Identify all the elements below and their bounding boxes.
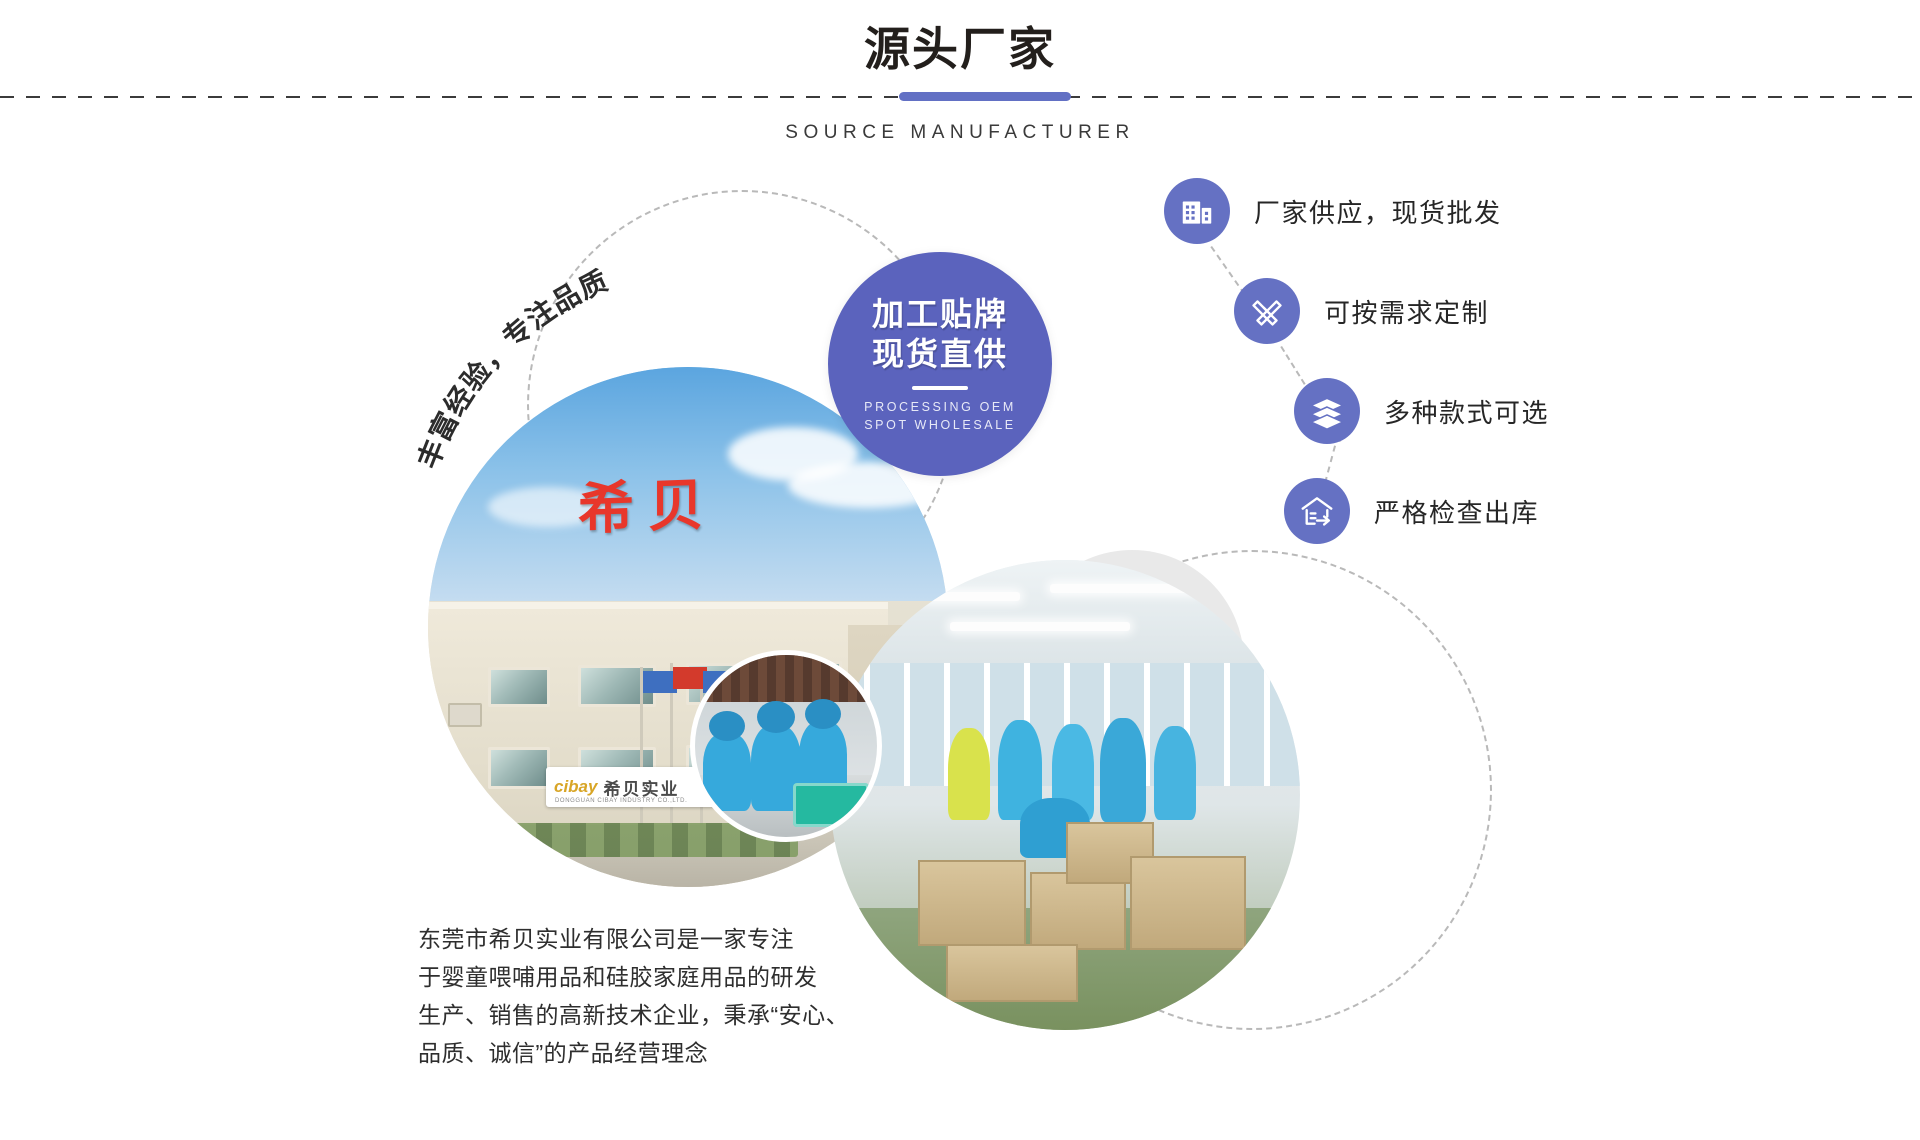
workshop-workers-photo: [690, 650, 882, 842]
bubble-line-2: 现货直供: [872, 334, 1008, 374]
page-subtitle: SOURCE MANUFACTURER: [0, 122, 1920, 144]
feature-item-2[interactable]: 可按需求定制: [1234, 278, 1489, 344]
feature-label-2: 可按需求定制: [1324, 293, 1489, 330]
bubble-divider: [912, 386, 968, 390]
company-description-line-2: 于婴童喂哺用品和硅胶家庭用品的研发: [418, 958, 978, 996]
wall-sign: cibay 希贝实业 DONGGUAN CIBAY INDUSTRY CO.,L…: [546, 767, 716, 807]
wall-sign-en: DONGGUAN CIBAY INDUSTRY CO.,LTD.: [555, 798, 687, 804]
green-basket: [793, 783, 869, 827]
feature-label-3: 多种款式可选: [1384, 393, 1549, 430]
company-description-line-1: 东莞市希贝实业有限公司是一家专注: [418, 920, 978, 958]
warehouse-outbound-icon: [1284, 478, 1350, 544]
worker: [948, 728, 990, 820]
company-description-line-4: 品质、诚信”的产品经营理念: [418, 1034, 978, 1072]
feature-list: 厂家供应，现货批发 可按需求定制: [1150, 160, 1770, 720]
company-description-line-3: 生产、销售的高新技术企业，秉承“安心、: [418, 996, 978, 1034]
air-conditioner: [448, 785, 482, 809]
window: [488, 747, 550, 789]
source-manufacturer-infographic: 源头厂家 SOURCE MANUFACTURER 丰富经验，专注品质: [0, 0, 1920, 1140]
header-accent-bar: [899, 92, 1071, 101]
feature-item-3[interactable]: 多种款式可选: [1294, 378, 1549, 444]
company-description: 东莞市希贝实业有限公司是一家专注 于婴童喂哺用品和硅胶家庭用品的研发 生产、销售…: [418, 920, 978, 1072]
worker: [1154, 726, 1196, 820]
ceiling-light: [950, 622, 1130, 631]
rooftop-sign: 希贝: [578, 460, 718, 546]
feature-item-4[interactable]: 严格检查出库: [1284, 478, 1539, 544]
wall-sign-logo: cibay: [554, 777, 597, 797]
bubble-line-1: 加工贴牌: [872, 294, 1008, 334]
carton-box: [1130, 856, 1246, 950]
feature-item-1[interactable]: 厂家供应，现货批发: [1164, 178, 1502, 244]
page-header: 源头厂家 SOURCE MANUFACTURER: [0, 0, 1920, 160]
ruler-pencil-icon: [1234, 278, 1300, 344]
hair-cap: [709, 711, 745, 741]
air-conditioner: [448, 703, 482, 727]
worker: [703, 733, 751, 811]
bubble-en-line-1: PROCESSING OEM: [864, 398, 1016, 416]
flag: [643, 671, 677, 693]
feature-label-4: 严格检查出库: [1374, 493, 1539, 530]
factory-building-icon: [1164, 178, 1230, 244]
ceiling-light: [900, 592, 1020, 601]
wall-sign-cn: 希贝实业: [603, 775, 679, 800]
layers-stack-icon: [1294, 378, 1360, 444]
page-title: 源头厂家: [0, 22, 1920, 76]
feature-label-1: 厂家供应，现货批发: [1254, 193, 1502, 230]
hair-cap: [757, 701, 795, 733]
window: [488, 667, 550, 707]
center-highlight-bubble: 加工贴牌 现货直供 PROCESSING OEM SPOT WHOLESALE: [828, 252, 1052, 476]
hair-cap: [805, 699, 841, 729]
back-wall: [695, 655, 877, 702]
worker: [1100, 718, 1146, 822]
bubble-en-line-2: SPOT WHOLESALE: [864, 416, 1015, 434]
